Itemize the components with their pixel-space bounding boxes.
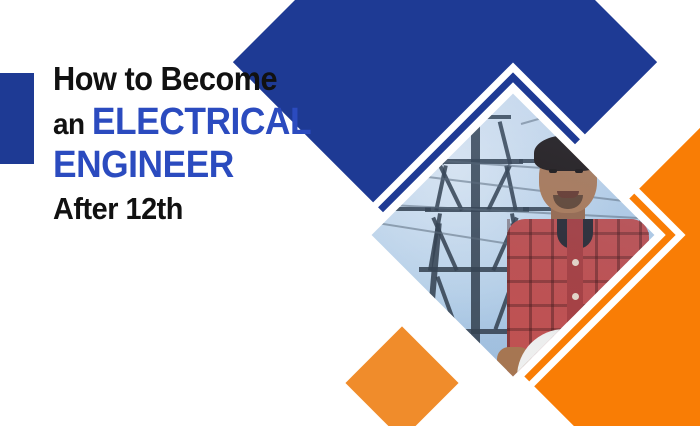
headline-line-1: How to Become [53, 62, 360, 95]
poster-canvas: How to Become an ELECTRICAL ENGINEER Aft… [0, 0, 700, 426]
headline-line-4: After 12th [53, 193, 360, 224]
headline-line-3: ENGINEER [53, 146, 360, 184]
headline-line-2-emphasis: ELECTRICAL [92, 101, 311, 143]
small-orange-diamond-shape [345, 326, 458, 426]
headline-block: How to Become an ELECTRICAL ENGINEER Aft… [53, 62, 383, 224]
headline-line-2: an ELECTRICAL [53, 103, 360, 141]
headline-line-2-prefix: an [53, 108, 92, 141]
blue-accent-bar [0, 73, 34, 164]
